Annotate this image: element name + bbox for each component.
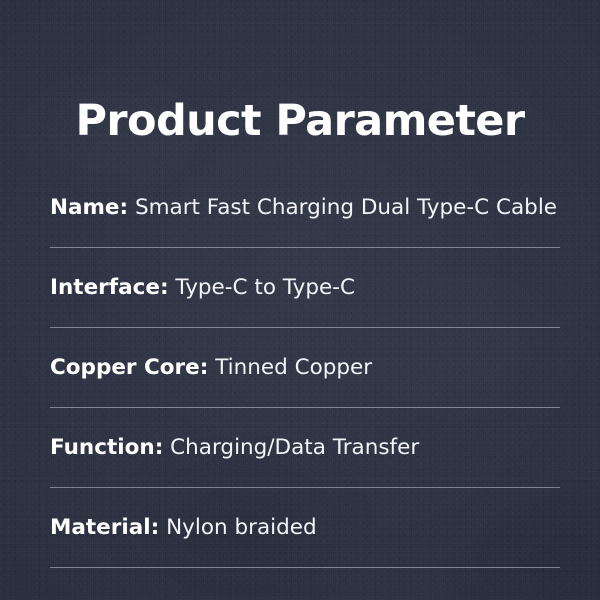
product-parameter-card: Product Parameter Name: Smart Fast Charg… [0,0,600,600]
row-divider [50,567,560,568]
parameter-row-copper-core: Copper Core: Tinned Copper [50,328,560,408]
parameter-label: Function: [50,435,163,460]
parameter-row-name: Name: Smart Fast Charging Dual Type-C Ca… [50,168,560,248]
parameter-value: Tinned Copper [215,355,372,380]
page-title: Product Parameter [0,100,600,143]
parameter-value: Nylon braided [166,515,317,540]
parameter-label: Name: [50,195,128,220]
parameter-text: Interface: Type-C to Type-C [50,275,355,301]
parameter-text: Name: Smart Fast Charging Dual Type-C Ca… [50,195,557,221]
parameter-text: Material: Nylon braided [50,515,317,541]
parameter-row-function: Function: Charging/Data Transfer [50,408,560,488]
parameter-row-interface: Interface: Type-C to Type-C [50,248,560,328]
parameter-value: Type-C to Type-C [175,275,355,300]
parameter-value: Smart Fast Charging Dual Type-C Cable [135,195,557,220]
parameter-text: Copper Core: Tinned Copper [50,355,372,381]
parameter-label: Copper Core: [50,355,208,380]
parameter-text: Function: Charging/Data Transfer [50,435,419,461]
parameter-list: Name: Smart Fast Charging Dual Type-C Ca… [50,168,560,568]
parameter-row-material: Material: Nylon braided [50,488,560,568]
parameter-label: Material: [50,515,159,540]
parameter-value: Charging/Data Transfer [170,435,419,460]
parameter-label: Interface: [50,275,169,300]
card-content: Product Parameter Name: Smart Fast Charg… [0,0,600,600]
